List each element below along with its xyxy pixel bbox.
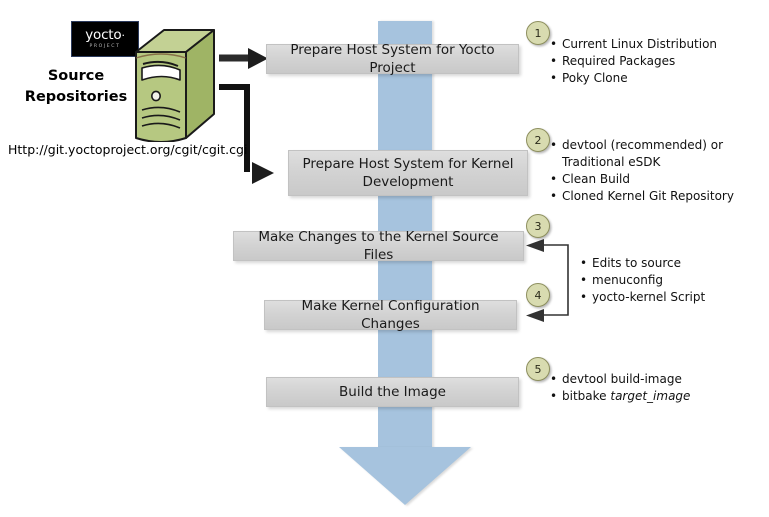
box-label: Build the Image [339,383,446,401]
note-item: Poky Clone [550,70,765,87]
notes-items: devtool build-imagebitbake target_image [550,371,765,405]
logo-dot: · [121,29,124,42]
box-label: Make Changes to the Kernel Source Files [242,228,515,264]
notes-list-step-5: devtool build-imagebitbake target_image [550,371,765,405]
diagram-canvas: yocto· PROJECT Source Repositories Http:… [0,0,769,517]
step-number-badge-5: 5 [526,357,550,381]
note-item: menuconfig [580,272,765,289]
notes-list-step-1: Current Linux DistributionRequired Packa… [550,36,765,87]
logo-subtext: PROJECT [89,43,120,50]
step-box-build-the-image[interactable]: Build the Image [266,377,519,407]
notes-list-step-2: devtool (recommended) or Traditional eSD… [550,137,765,205]
logo-wordmark: yocto· [85,29,125,42]
step-number: 5 [535,363,542,376]
step-number: 4 [535,289,542,302]
source-repositories-url: Http://git.yoctoproject.org/cgit/cgit.cg… [8,142,247,157]
note-item: yocto-kernel Script [580,289,765,306]
note-emphasis: target_image [610,389,690,403]
step-number-badge-1: 1 [526,21,550,45]
notes-items: devtool (recommended) or Traditional eSD… [550,137,765,205]
note-item: devtool build-image [550,371,765,388]
step-number: 1 [535,27,542,40]
notes-list-steps-3-and-4: Edits to sourcemenuconfigyocto-kernel Sc… [580,255,765,306]
step-number-badge-3: 3 [526,214,550,238]
server-icon [132,28,218,142]
yocto-project-logo: yocto· PROJECT [71,21,139,57]
notes-items: Current Linux DistributionRequired Packa… [550,36,765,87]
source-repositories-label: Source Repositories [16,66,136,108]
note-item: Cloned Kernel Git Repository [550,188,765,205]
note-item: Required Packages [550,53,765,70]
note-item: Current Linux Distribution [550,36,765,53]
box-label: Make Kernel Configuration Changes [273,297,508,333]
step-box-make-kernel-configuration-changes[interactable]: Make Kernel Configuration Changes [264,300,517,330]
step-box-prepare-host-system-for-kernel-development[interactable]: Prepare Host System for Kernel Developme… [288,150,528,196]
step-box-make-changes-to-the-kernel-source-files[interactable]: Make Changes to the Kernel Source Files [233,231,524,261]
box-label: Prepare Host System for Yocto Project [275,41,510,77]
step-box-prepare-host-system-for-yocto-project[interactable]: Prepare Host System for Yocto Project [266,44,519,74]
step-number: 2 [535,134,542,147]
step-number-badge-2: 2 [526,128,550,152]
note-item: bitbake target_image [550,388,765,405]
box-label: Prepare Host System for Kernel Developme… [297,155,519,191]
notes-items: Edits to sourcemenuconfigyocto-kernel Sc… [580,255,765,306]
note-item: Edits to source [580,255,765,272]
step-number: 3 [535,220,542,233]
step-number-badge-4: 4 [526,283,550,307]
note-item: devtool (recommended) or Traditional eSD… [550,137,765,171]
note-item: Clean Build [550,171,765,188]
